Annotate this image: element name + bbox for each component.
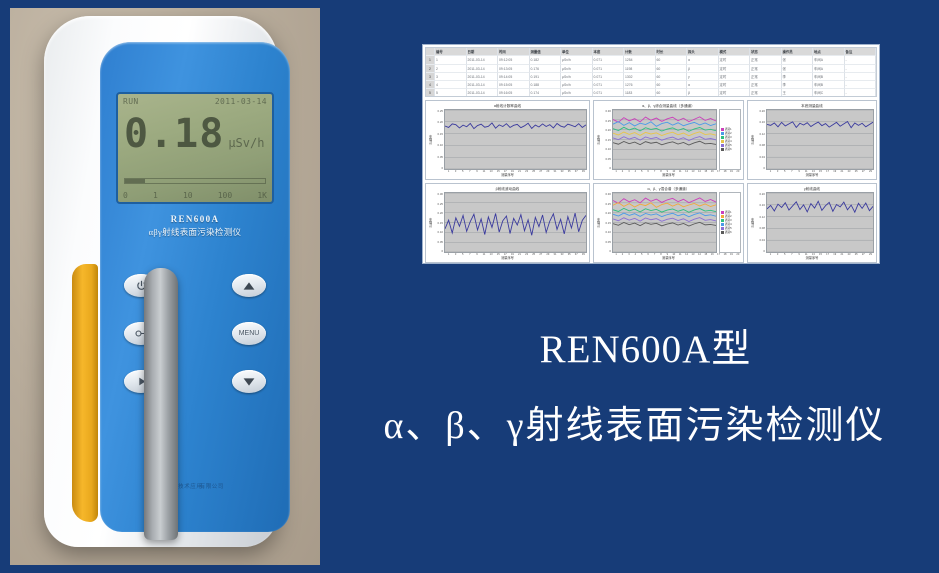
chart-body: 计数率0.300.250.200.150.100.050 bbox=[428, 192, 587, 253]
table-cell: 李 bbox=[782, 81, 814, 89]
device-label: REN600A αβγ射线表面污染检测仪 bbox=[100, 214, 290, 238]
legend-label: 通道6 bbox=[725, 231, 732, 235]
column-header-cell: 时间 bbox=[498, 48, 530, 56]
table-cell: - bbox=[845, 56, 877, 64]
table-cell: 60 bbox=[656, 73, 688, 81]
y-tick-label: 0.25 bbox=[601, 202, 611, 206]
spreadsheet-header-row[interactable]: 编号日期时间测量值单位本底计数时长探头模式状态操作员地点备注 bbox=[426, 48, 876, 56]
row-index-cell bbox=[426, 48, 435, 56]
column-header-cell: 模式 bbox=[719, 48, 751, 56]
y-tick-label: 0.10 bbox=[433, 230, 443, 234]
row-index-cell: 2 bbox=[426, 65, 435, 73]
chart-plot-area bbox=[444, 109, 587, 170]
down-button[interactable] bbox=[232, 370, 266, 393]
table-cell: 0.071 bbox=[593, 73, 625, 81]
y-tick-label: 0.05 bbox=[433, 240, 443, 244]
y-tick-label: 0.12 bbox=[755, 215, 765, 219]
table-cell: μSv/h bbox=[561, 65, 593, 73]
table-cell: 定时 bbox=[719, 73, 751, 81]
table-cell: 定时 bbox=[719, 56, 751, 64]
table-cell: - bbox=[845, 65, 877, 73]
chart-plot-area bbox=[766, 192, 874, 253]
menu-button[interactable]: MENU bbox=[232, 322, 266, 345]
y-tick-label: 0.25 bbox=[433, 109, 443, 113]
table-cell: 定时 bbox=[719, 89, 751, 97]
chart-y-axis-label: 计数率 bbox=[750, 135, 755, 145]
table-cell: 1254 bbox=[624, 56, 656, 64]
table-cell: 09:16:05 bbox=[498, 89, 530, 97]
table-cell: 0.071 bbox=[593, 89, 625, 97]
table-cell: 1302 bbox=[624, 73, 656, 81]
table-cell: 2 bbox=[435, 65, 467, 73]
device-shell: RUN 2011-03-14 0.18 μSv/h 01101001K REN6… bbox=[44, 16, 278, 547]
y-tick-label: 0.20 bbox=[755, 109, 765, 113]
chart-y-ticks: 0.300.250.200.150.100.050 bbox=[601, 192, 612, 253]
lcd-scale-tick: 0 bbox=[123, 191, 128, 200]
chart-body: 计数率0.250.200.150.100.050 bbox=[428, 109, 587, 170]
y-tick-label: 0.15 bbox=[601, 221, 611, 225]
table-cell: 09:12:05 bbox=[498, 56, 530, 64]
device-hand-strap bbox=[144, 268, 178, 540]
data-spreadsheet[interactable]: 编号日期时间测量值单位本底计数时长探头模式状态操作员地点备注112011-03-… bbox=[425, 47, 877, 97]
chart-body: 计数率0.300.250.200.150.100.050通道1通道2通道3通道4… bbox=[596, 192, 741, 253]
y-tick-label: 0.30 bbox=[601, 192, 611, 196]
table-cell: 4 bbox=[435, 81, 467, 89]
table-cell: 张 bbox=[782, 65, 814, 73]
chart-plot-area bbox=[444, 192, 587, 253]
table-cell: 0.071 bbox=[593, 56, 625, 64]
table-cell: 正常 bbox=[750, 56, 782, 64]
row-index-cell: 3 bbox=[426, 73, 435, 81]
chart-plot-area bbox=[766, 109, 874, 170]
table-cell: 09:13:05 bbox=[498, 65, 530, 73]
table-cell: 正常 bbox=[750, 73, 782, 81]
chart-body: 计数率0.300.250.200.150.100.050通道1通道2通道3通道4… bbox=[596, 109, 741, 170]
legend-swatch bbox=[721, 144, 724, 146]
lcd-bargraph bbox=[124, 178, 266, 184]
triangle-up-icon bbox=[243, 281, 255, 291]
chart-y-axis-label: 计数率 bbox=[428, 218, 433, 228]
legend-swatch bbox=[721, 136, 724, 138]
legend-item: 通道6 bbox=[721, 148, 739, 152]
chart-card: β射线波动曲线计数率0.300.250.200.150.100.05013579… bbox=[425, 183, 590, 263]
table-cell: μSv/h bbox=[561, 73, 593, 81]
triangle-down-icon bbox=[243, 377, 255, 387]
table-cell: 0.071 bbox=[593, 81, 625, 89]
table-cell: 0.174 bbox=[530, 89, 562, 97]
chart-y-axis-label: 计数率 bbox=[428, 135, 433, 145]
table-cell: 定时 bbox=[719, 81, 751, 89]
table-cell: 3 bbox=[435, 73, 467, 81]
y-tick-label: 0.30 bbox=[601, 109, 611, 113]
y-tick-label: 0.16 bbox=[755, 120, 765, 124]
y-tick-label: 0.15 bbox=[433, 132, 443, 136]
lcd-status-right: 2011-03-14 bbox=[215, 97, 267, 106]
legend-swatch bbox=[721, 211, 724, 213]
legend-swatch bbox=[721, 231, 724, 233]
table-row[interactable]: 222011-03-1409:13:050.176μSv/h0.07111986… bbox=[426, 65, 876, 73]
chart-y-ticks: 0.300.250.200.150.100.050 bbox=[433, 192, 444, 253]
table-cell: 60 bbox=[656, 89, 688, 97]
y-tick-label: 0.20 bbox=[755, 192, 765, 196]
device-faceplate: RUN 2011-03-14 0.18 μSv/h 01101001K REN6… bbox=[100, 42, 290, 532]
y-tick-label: 0.05 bbox=[433, 155, 443, 159]
legend-swatch bbox=[721, 223, 724, 225]
chart-x-axis-label: 测量序号 bbox=[596, 256, 741, 261]
table-cell: 0.188 bbox=[530, 81, 562, 89]
y-tick-label: 0.05 bbox=[601, 157, 611, 161]
y-tick-label: 0.12 bbox=[755, 132, 765, 136]
device-model-label: REN600A bbox=[100, 214, 290, 224]
software-screenshot: 编号日期时间测量值单位本底计数时长探头模式状态操作员地点备注112011-03-… bbox=[422, 44, 880, 264]
table-cell: α bbox=[687, 56, 719, 64]
y-tick-label: 0.20 bbox=[433, 120, 443, 124]
chart-legend: 通道1通道2通道3通道4通道5通道6 bbox=[719, 192, 741, 253]
legend-swatch bbox=[721, 140, 724, 142]
chart-grid: α射线计数率曲线计数率0.250.200.150.100.05013579111… bbox=[425, 100, 877, 263]
table-cell: 1183 bbox=[624, 89, 656, 97]
table-cell: 60 bbox=[656, 65, 688, 73]
chart-x-axis-label: 测量序号 bbox=[596, 173, 741, 178]
table-cell: 09:14:05 bbox=[498, 73, 530, 81]
table-cell: 2011-03-14 bbox=[467, 56, 499, 64]
chart-card: α、β、γ混合谱（多通道）计数率0.300.250.200.150.100.05… bbox=[593, 183, 744, 263]
legend-label: 通道6 bbox=[725, 148, 732, 152]
chart-y-axis-label: 计数率 bbox=[596, 218, 601, 228]
table-cell: β bbox=[687, 89, 719, 97]
column-header-cell: 计数 bbox=[624, 48, 656, 56]
y-tick-label: 0.20 bbox=[433, 211, 443, 215]
table-cell: 1276 bbox=[624, 81, 656, 89]
table-cell: 60 bbox=[656, 81, 688, 89]
faceplate-footer-right: 有限公司 bbox=[200, 482, 224, 490]
y-tick-label: 0.10 bbox=[601, 230, 611, 234]
table-cell: 60 bbox=[656, 56, 688, 64]
column-header-cell: 备注 bbox=[845, 48, 877, 56]
chart-card: α射线计数率曲线计数率0.250.200.150.100.05013579111… bbox=[425, 100, 590, 180]
legend-swatch bbox=[721, 215, 724, 217]
table-cell: 李 bbox=[782, 73, 814, 81]
table-cell: 车间A bbox=[813, 56, 845, 64]
chart-card: α、β、γ综合测量曲线（多通道）计数率0.300.250.200.150.100… bbox=[593, 100, 744, 180]
lcd-reading: 0.18 μSv/h bbox=[124, 114, 268, 154]
legend-item: 通道6 bbox=[721, 231, 739, 235]
chart-x-axis-label: 测量序号 bbox=[750, 256, 874, 261]
table-cell: 1198 bbox=[624, 65, 656, 73]
column-header-cell: 探头 bbox=[687, 48, 719, 56]
y-tick-label: 0.08 bbox=[755, 226, 765, 230]
table-row[interactable]: 112011-03-1409:12:050.182μSv/h0.07112546… bbox=[426, 56, 876, 64]
legend-swatch bbox=[721, 128, 724, 130]
chart-body: 计数率0.200.160.120.080.040 bbox=[750, 109, 874, 170]
table-cell: γ bbox=[687, 73, 719, 81]
table-cell: 正常 bbox=[750, 65, 782, 73]
y-tick-label: 0.10 bbox=[601, 147, 611, 151]
table-cell: 张 bbox=[782, 56, 814, 64]
table-cell: 车间B bbox=[813, 73, 845, 81]
table-cell: μSv/h bbox=[561, 89, 593, 97]
chart-y-ticks: 0.250.200.150.100.050 bbox=[433, 109, 444, 170]
chart-plot-area bbox=[612, 109, 717, 170]
up-button[interactable] bbox=[232, 274, 266, 297]
y-tick-label: 0.16 bbox=[755, 203, 765, 207]
table-cell: 2011-03-14 bbox=[467, 81, 499, 89]
column-header-cell: 日期 bbox=[467, 48, 499, 56]
y-tick-label: 0.20 bbox=[601, 128, 611, 132]
y-tick-label: 0.30 bbox=[433, 192, 443, 196]
legend-swatch bbox=[721, 148, 724, 150]
device-lcd-display: RUN 2011-03-14 0.18 μSv/h 01101001K bbox=[116, 92, 274, 204]
column-header-cell: 测量值 bbox=[530, 48, 562, 56]
lcd-scale-tick: 1K bbox=[257, 191, 267, 200]
table-cell: 09:15:05 bbox=[498, 81, 530, 89]
column-header-cell: 状态 bbox=[750, 48, 782, 56]
table-cell: 0.071 bbox=[593, 65, 625, 73]
lcd-scale-tick: 100 bbox=[218, 191, 232, 200]
table-cell: 车间C bbox=[813, 89, 845, 97]
y-tick-label: 0.15 bbox=[601, 138, 611, 142]
table-cell: β bbox=[687, 65, 719, 73]
y-tick-label: 0.05 bbox=[601, 240, 611, 244]
chart-card: γ射线曲线计数率0.200.160.120.080.04013579111315… bbox=[747, 183, 877, 263]
column-header-cell: 操作员 bbox=[782, 48, 814, 56]
table-cell: 正常 bbox=[750, 81, 782, 89]
table-cell: - bbox=[845, 81, 877, 89]
table-row[interactable]: 332011-03-1409:14:050.191μSv/h0.07113026… bbox=[426, 73, 876, 81]
chart-x-axis-label: 测量序号 bbox=[750, 173, 874, 178]
table-cell: 车间B bbox=[813, 81, 845, 89]
column-header-cell: 时长 bbox=[656, 48, 688, 56]
device-description-label: αβγ射线表面污染检测仪 bbox=[100, 226, 290, 238]
y-tick-label: 0.04 bbox=[755, 238, 765, 242]
table-cell: 5 bbox=[435, 89, 467, 97]
legend-swatch bbox=[721, 219, 724, 221]
device-grip-left bbox=[72, 264, 98, 522]
legend-swatch bbox=[721, 227, 724, 229]
chart-legend: 通道1通道2通道3通道4通道5通道6 bbox=[719, 109, 741, 170]
chart-y-ticks: 0.200.160.120.080.040 bbox=[755, 192, 766, 253]
table-row[interactable]: 442011-03-1409:15:050.188μSv/h0.07112766… bbox=[426, 81, 876, 89]
table-cell: α bbox=[687, 81, 719, 89]
y-tick-label: 0.25 bbox=[433, 202, 443, 206]
row-index-cell: 5 bbox=[426, 89, 435, 97]
lcd-scale-tick: 10 bbox=[183, 191, 193, 200]
lcd-status-left: RUN bbox=[123, 97, 139, 106]
table-cell: μSv/h bbox=[561, 81, 593, 89]
chart-x-axis-label: 测量序号 bbox=[428, 173, 587, 178]
chart-x-axis-label: 测量序号 bbox=[428, 256, 587, 261]
chart-y-axis-label: 计数率 bbox=[596, 135, 601, 145]
table-cell: 0.182 bbox=[530, 56, 562, 64]
y-tick-label: 0.08 bbox=[755, 143, 765, 147]
table-cell: 定时 bbox=[719, 65, 751, 73]
chart-y-axis-label: 计数率 bbox=[750, 218, 755, 228]
table-cell: μSv/h bbox=[561, 56, 593, 64]
y-tick-label: 0.15 bbox=[433, 221, 443, 225]
table-cell: 1 bbox=[435, 56, 467, 64]
chart-y-ticks: 0.200.160.120.080.040 bbox=[755, 109, 766, 170]
table-cell: - bbox=[845, 89, 877, 97]
legend-swatch bbox=[721, 132, 724, 134]
product-photo: RUN 2011-03-14 0.18 μSv/h 01101001K REN6… bbox=[10, 8, 320, 565]
table-cell: 0.191 bbox=[530, 73, 562, 81]
chart-body: 计数率0.200.160.120.080.040 bbox=[750, 192, 874, 253]
table-cell: 2011-03-14 bbox=[467, 65, 499, 73]
row-index-cell: 4 bbox=[426, 81, 435, 89]
chart-plot-area bbox=[612, 192, 717, 253]
title-block: REN600A型 α、β、γ射线表面污染检测仪 bbox=[330, 318, 939, 449]
lcd-unit: μSv/h bbox=[228, 136, 264, 150]
product-title-line2: α、β、γ射线表面污染检测仪 bbox=[330, 394, 939, 449]
table-cell: 王 bbox=[782, 89, 814, 97]
column-header-cell: 单位 bbox=[561, 48, 593, 56]
y-tick-label: 0.20 bbox=[601, 211, 611, 215]
table-cell: 2011-03-14 bbox=[467, 73, 499, 81]
table-cell: 0.176 bbox=[530, 65, 562, 73]
menu-label: MENU bbox=[239, 330, 260, 337]
column-header-cell: 地点 bbox=[813, 48, 845, 56]
table-cell: 车间A bbox=[813, 65, 845, 73]
product-title-line1: REN600A型 bbox=[330, 318, 939, 374]
table-cell: - bbox=[845, 73, 877, 81]
table-row[interactable]: 552011-03-1409:16:050.174μSv/h0.07111836… bbox=[426, 89, 876, 97]
column-header-cell: 本底 bbox=[593, 48, 625, 56]
table-cell: 正常 bbox=[750, 89, 782, 97]
chart-card: 本底测量曲线计数率0.200.160.120.080.0401357911131… bbox=[747, 100, 877, 180]
y-tick-label: 0.25 bbox=[601, 119, 611, 123]
device-keypad: MENU bbox=[100, 274, 290, 414]
row-index-cell: 1 bbox=[426, 56, 435, 64]
lcd-scale-tick: 1 bbox=[153, 191, 158, 200]
lcd-scale: 01101001K bbox=[123, 191, 267, 200]
y-tick-label: 0.10 bbox=[433, 143, 443, 147]
table-cell: 2011-03-14 bbox=[467, 89, 499, 97]
chart-y-ticks: 0.300.250.200.150.100.050 bbox=[601, 109, 612, 170]
lcd-value: 0.18 bbox=[124, 114, 224, 154]
column-header-cell: 编号 bbox=[435, 48, 467, 56]
lcd-status-row: RUN 2011-03-14 bbox=[123, 97, 267, 106]
y-tick-label: 0.04 bbox=[755, 155, 765, 159]
